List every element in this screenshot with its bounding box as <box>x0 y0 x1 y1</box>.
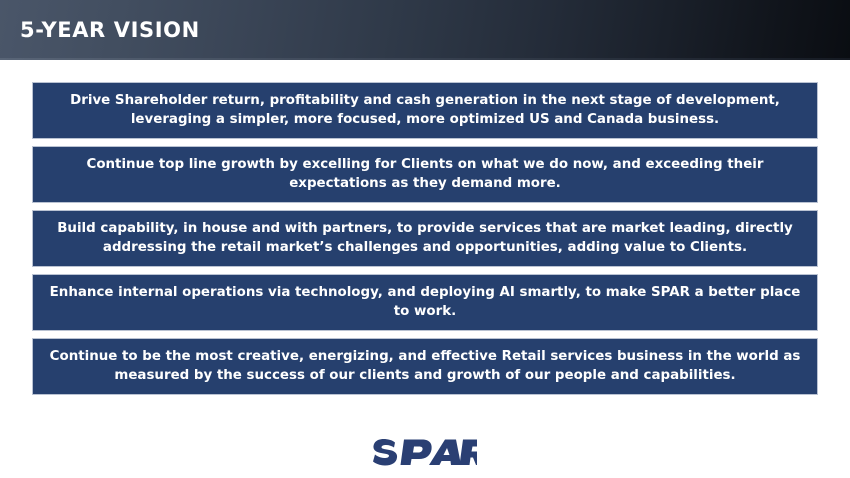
vision-statement-item: Drive Shareholder return, profitability … <box>32 82 818 139</box>
vision-statement-item: Build capability, in house and with part… <box>32 210 818 267</box>
slide-header: 5-YEAR VISION <box>0 0 850 60</box>
vision-statement-item: Continue top line growth by excelling fo… <box>32 146 818 203</box>
footer-logo-area <box>0 438 850 468</box>
vision-statement-item: Enhance internal operations via technolo… <box>32 274 818 331</box>
spar-logo <box>373 438 477 468</box>
page-title: 5-YEAR VISION <box>20 20 200 41</box>
vision-statement-item: Continue to be the most creative, energi… <box>32 338 818 395</box>
vision-statement-list: Drive Shareholder return, profitability … <box>32 82 818 395</box>
slide-root: 5-YEAR VISION Drive Shareholder return, … <box>0 0 850 478</box>
